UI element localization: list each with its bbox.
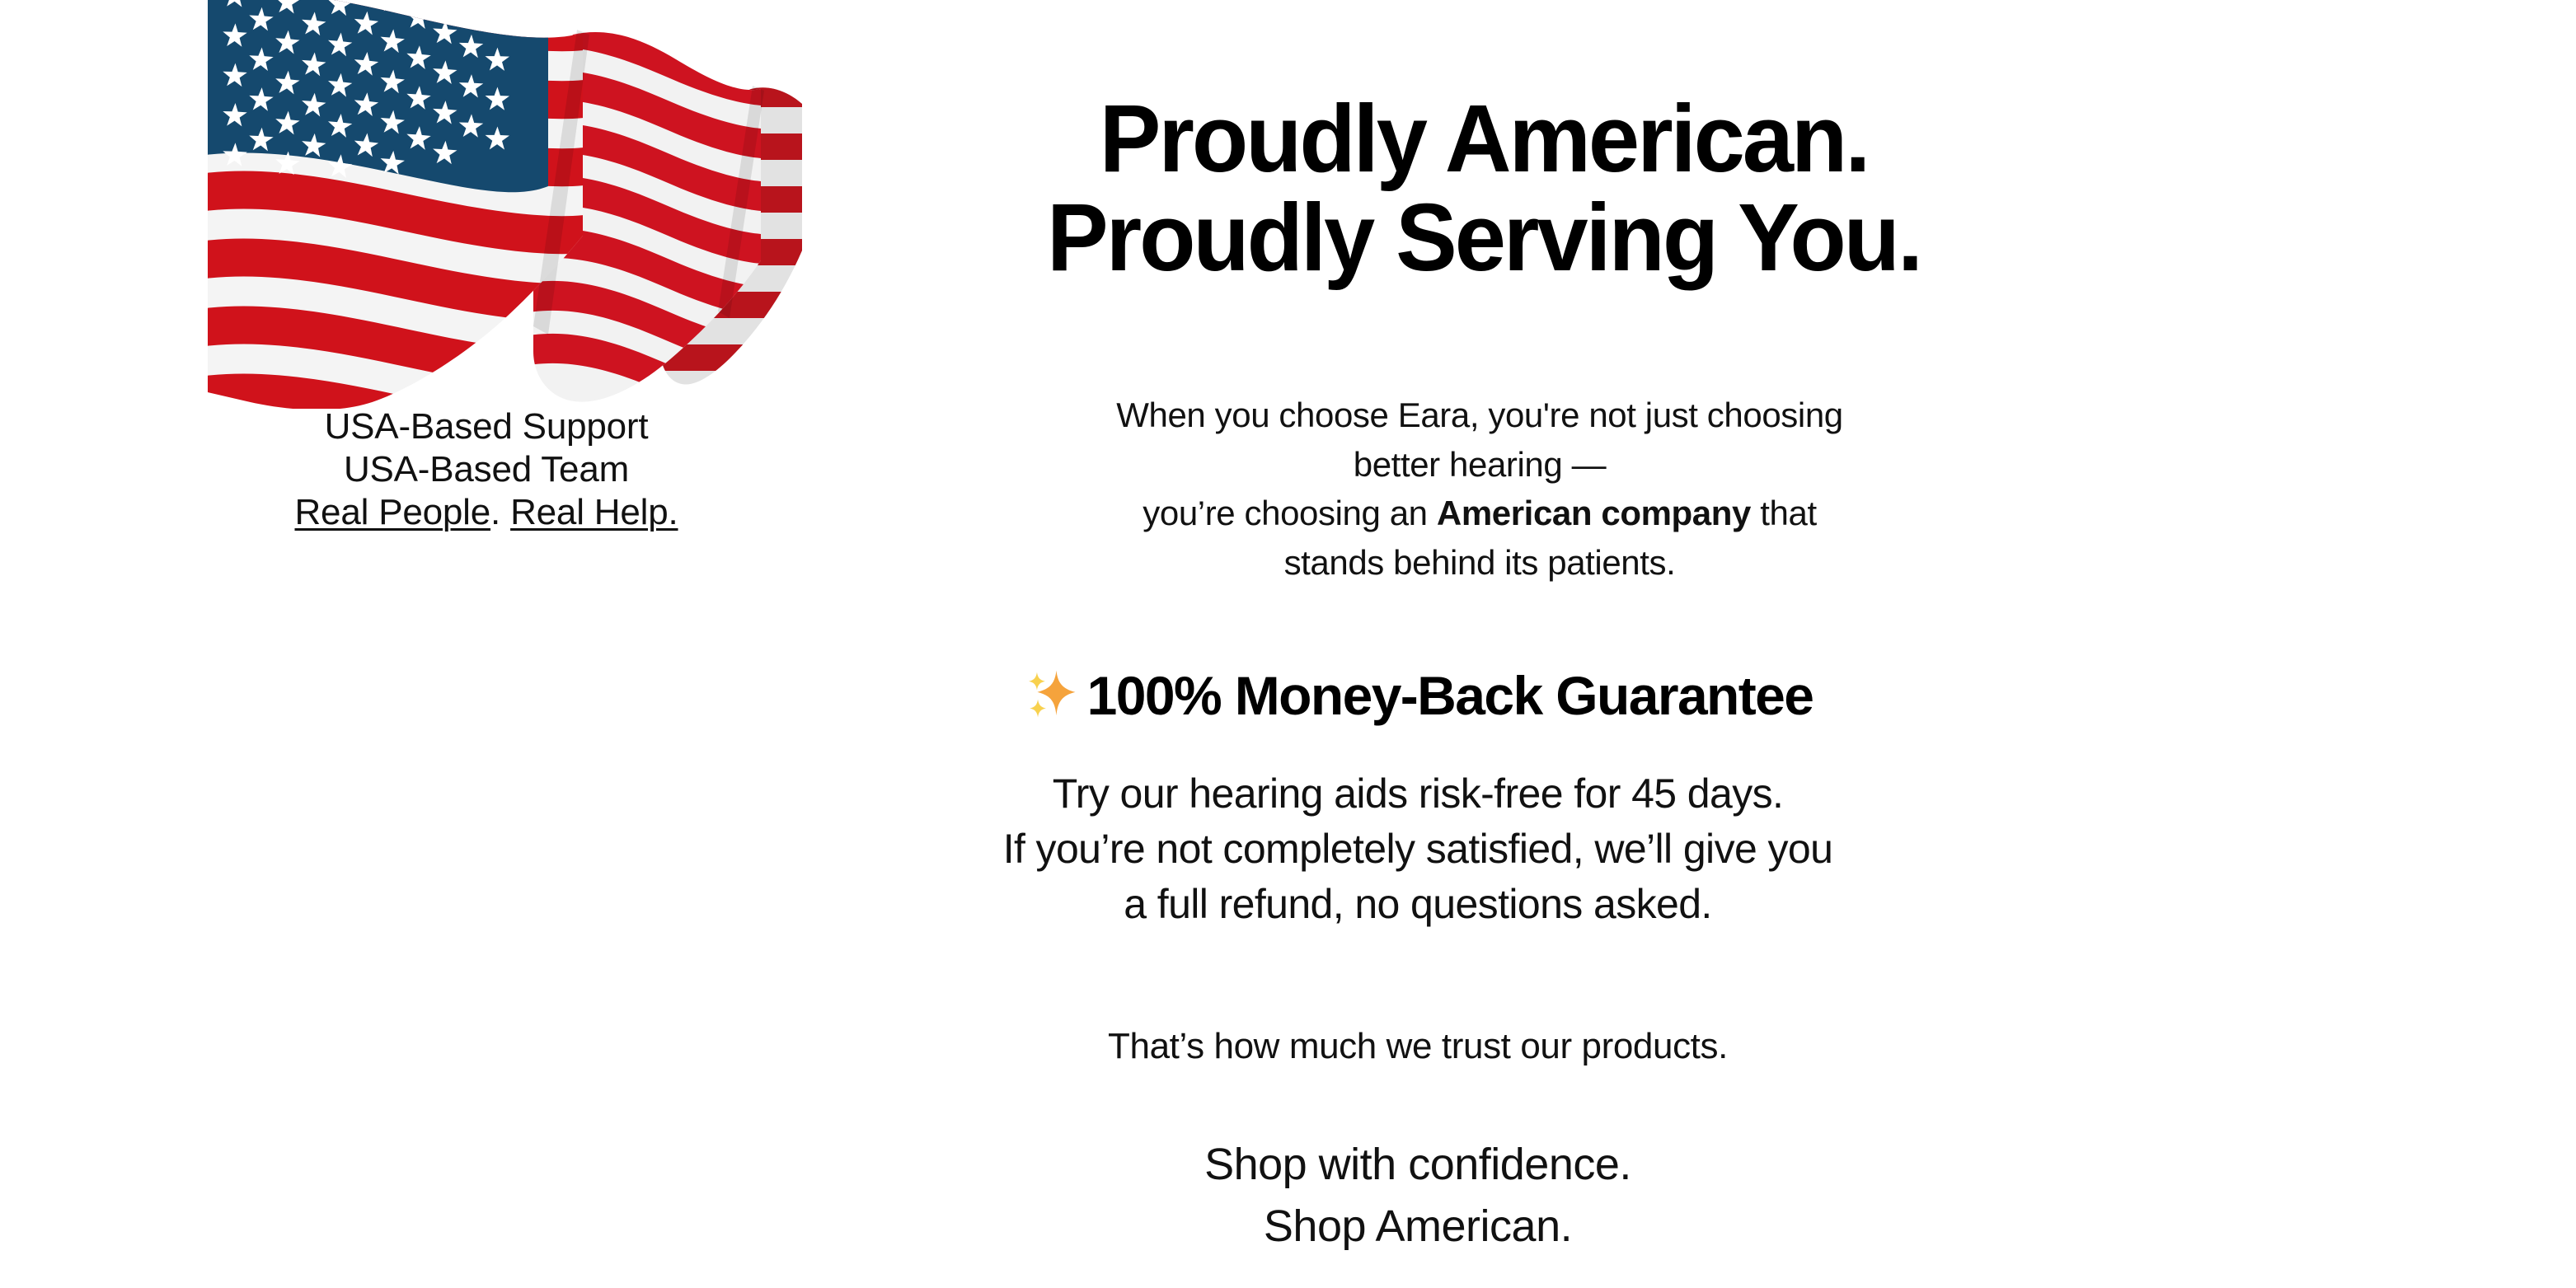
guarantee-line-3: a full refund, no questions asked. [577, 877, 2259, 932]
flag-star [486, 8, 509, 31]
intro-line-4: stands behind its patients. [861, 538, 2098, 588]
guarantee-body: Try our hearing aids risk-free for 45 da… [577, 766, 2259, 932]
intro-line-2: better hearing — [861, 440, 2098, 489]
intro-line-3-after: that [1751, 494, 1817, 532]
guarantee-line-2: If you’re not completely satisfied, we’l… [577, 822, 2259, 877]
caption-real-people: Real People [294, 492, 490, 532]
intro-line-1: When you choose Eara, you're not just ch… [861, 391, 2098, 440]
caption-line-support: USA-Based Support [99, 405, 874, 448]
usa-waving-flag-icon [161, 0, 812, 409]
page-title: Proudly American. Proudly Serving You. [875, 89, 2092, 288]
intro-paragraph: When you choose Eara, you're not just ch… [861, 391, 2098, 588]
guarantee-line-1: Try our hearing aids risk-free for 45 da… [577, 766, 2259, 822]
caption-line-team: USA-Based Team [99, 448, 874, 491]
usa-support-caption: USA-Based Support USA-Based Team Real Pe… [99, 405, 874, 534]
guarantee-heading: 100% Money-Back Guarantee [544, 665, 2292, 724]
flag-star [433, 0, 457, 4]
headline-line-1: Proudly American. [875, 89, 2092, 189]
caption-separator: . [490, 492, 510, 532]
guarantee-heading-text: 100% Money-Back Guarantee [1087, 667, 1814, 724]
trust-statement: That’s how much we trust our products. [626, 1023, 2209, 1069]
intro-line-3: you’re choosing an American company that [861, 489, 2098, 538]
caption-line-real-help: Real People. Real Help. [99, 491, 874, 534]
intro-line-3-before: you’re choosing an [1143, 494, 1437, 532]
sparkles-icon [1023, 665, 1081, 723]
closing-line-1: Shop with confidence. [626, 1134, 2209, 1196]
intro-emphasis-american-company: American company [1437, 494, 1751, 532]
flag-star [381, 0, 405, 12]
closing-call-to-action: Shop with confidence. Shop American. [626, 1134, 2209, 1257]
flag-star [459, 0, 483, 18]
caption-real-help: Real Help. [510, 492, 678, 532]
closing-line-2: Shop American. [626, 1196, 2209, 1258]
headline-line-2: Proudly Serving You. [875, 188, 2092, 288]
promo-banner: USA-Based Support USA-Based Team Real Pe… [0, 0, 2576, 1288]
